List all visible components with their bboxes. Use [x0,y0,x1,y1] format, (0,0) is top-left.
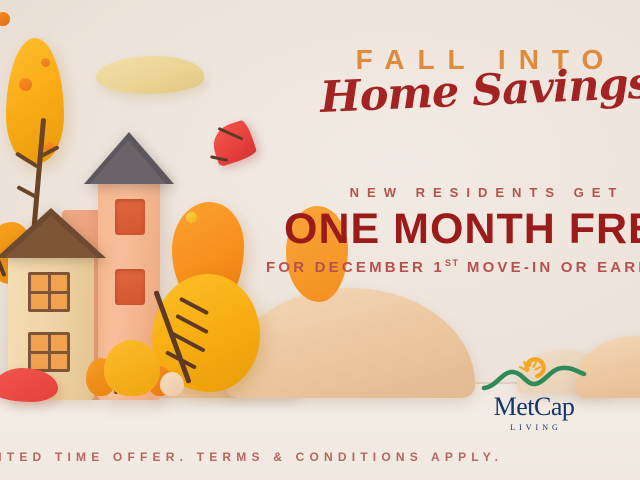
bush-shape [160,372,184,396]
orange-berry-dot [41,58,50,67]
offer-subline-superscript: ST [445,258,460,268]
yellow-blob-tree-icon [6,38,64,163]
offer-eyebrow-text: NEW RESIDENTS GET [258,185,640,200]
house-window-grid [28,332,70,372]
fall-promotion-banner: FALL INTO Home Savings! NEW RESIDENTS GE… [0,0,640,480]
headline-block: FALL INTO Home Savings! [320,46,640,113]
leaf-vein [179,297,209,316]
house-window [115,269,145,305]
house-window [115,199,145,235]
hill-shape-large [225,288,475,398]
offer-subline-suffix: MOVE-IN OR EARLY [460,259,640,276]
offer-subline-prefix: FOR DECEMBER 1 [266,259,445,276]
leaf-vein [218,127,244,141]
leaf-vein [175,314,209,334]
metcap-logo-mark [480,356,588,396]
disclaimer-text: LIMITED TIME OFFER. TERMS & CONDITIONS A… [0,450,503,464]
bush-shape [104,340,160,396]
metcap-wordmark: MetCap [480,394,588,420]
offer-subline: FOR DECEMBER 1ST MOVE-IN OR EARLY [258,258,640,276]
metcap-tagline: LIVING [480,423,588,432]
orange-berry-dot [19,78,32,91]
green-hills-swoosh [484,368,584,388]
offer-headline-text: ONE MONTH FREE [258,206,640,252]
orange-berry-dot [0,12,10,26]
house-window-grid [28,272,70,312]
yellow-berry-dot [186,212,197,223]
house-small-roof-inner [4,216,98,258]
sun-icon [520,359,544,376]
red-leaf-icon [208,119,258,168]
metcap-living-logo[interactable]: MetCap LIVING [480,356,588,432]
offer-block: NEW RESIDENTS GET ONE MONTH FREE FOR DEC… [258,185,640,276]
house-tall-roof-inner [90,140,166,184]
leaf-stem [210,155,228,162]
cream-cloud-shape [96,56,204,94]
headline-script-line: Home Savings! [319,63,640,120]
